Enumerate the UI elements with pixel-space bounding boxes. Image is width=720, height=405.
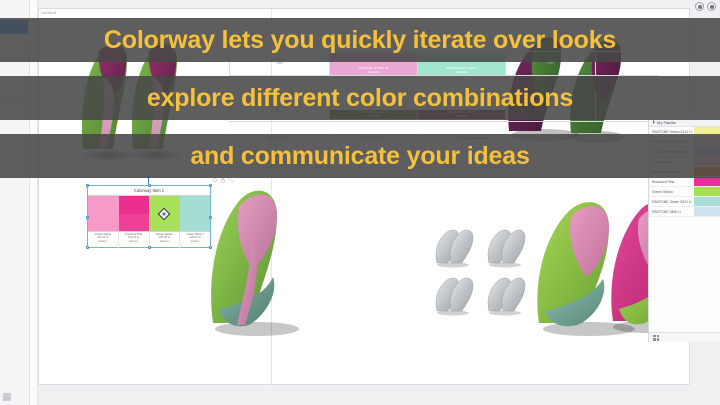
- caption-line-1: Colorway lets you quickly iterate over l…: [104, 26, 616, 55]
- colorway-swatch[interactable]: [119, 196, 150, 231]
- settings-icon[interactable]: [695, 2, 704, 11]
- thumbnail-shoe[interactable]: [483, 275, 527, 317]
- swatch-label: Cotton Candy 100.00 % Factory: [88, 232, 118, 248]
- top-right-toolbar[interactable]: [695, 2, 716, 11]
- rail-status-badge: [3, 393, 11, 401]
- caption-line-3: and communicate your ideas: [190, 142, 529, 171]
- swatch-source: Factory: [88, 240, 118, 243]
- colorway-swatch[interactable]: [180, 196, 211, 231]
- resize-handle[interactable]: [86, 246, 89, 249]
- colorway-swatch[interactable]: [88, 196, 119, 231]
- list-item[interactable]: Knockout Pink: [649, 177, 720, 187]
- swatch-source: Factory: [180, 240, 210, 243]
- swatch-source: Factory: [119, 240, 149, 243]
- resize-handle[interactable]: [209, 216, 212, 219]
- caption-line-2: explore different color combinations: [147, 84, 573, 113]
- resize-handle[interactable]: [86, 184, 89, 187]
- resize-handle[interactable]: [148, 246, 151, 249]
- colorway-swatch-strip: [88, 196, 210, 231]
- swatch-source: Factory: [150, 240, 180, 243]
- chip-hex: #a1e5d0: [456, 71, 467, 74]
- thumbnail-shoe[interactable]: [431, 275, 475, 317]
- palette-color-chip[interactable]: [694, 187, 720, 196]
- color-chip[interactable]: PANTONE 13-2520 TN #eaa7d3: [330, 66, 417, 75]
- caption-band-1: Colorway lets you quickly iterate over l…: [0, 18, 720, 62]
- resize-handle[interactable]: [86, 216, 89, 219]
- rotate-stem: [148, 178, 149, 184]
- shoe-render-center[interactable]: [199, 177, 314, 342]
- colorway-swatch[interactable]: [149, 196, 180, 231]
- chevron-right-icon[interactable]: [653, 120, 655, 124]
- palette-color-chip[interactable]: [694, 197, 720, 206]
- palette-color-name: PANTONE Yellow 0131 U: [649, 130, 694, 134]
- swatch-label: Green 0921 U 100.00 % Factory: [179, 232, 210, 248]
- thumbnail-shoe[interactable]: [431, 227, 475, 269]
- list-item[interactable]: Green Gecko: [649, 187, 720, 197]
- swatch-label: Green Gecko 100.00 % Factory: [149, 232, 180, 248]
- swatch-label: Knockout Pink 100.00 % Factory: [118, 232, 149, 248]
- grid-view-icon[interactable]: [653, 335, 659, 341]
- palette-color-name: PANTONE 9460 U: [649, 210, 694, 214]
- palette-color-chip[interactable]: [694, 207, 720, 216]
- list-item[interactable]: PANTONE 9460 U: [649, 207, 720, 217]
- color-chip[interactable]: PANTONE 0344 2520 U #a1e5d0: [418, 66, 505, 75]
- list-item[interactable]: PANTONE Green 0921 U: [649, 197, 720, 207]
- document-canvas[interactable]: Untitled: [38, 8, 690, 385]
- canvas-label: Untitled: [41, 10, 56, 15]
- colorway-item-panel[interactable]: Colorway Item 1: [87, 185, 211, 248]
- resize-handle[interactable]: [148, 184, 151, 187]
- palette-footer[interactable]: [649, 332, 720, 342]
- palette-color-name: Knockout Pink: [649, 180, 694, 184]
- palette-title: My Palette: [657, 120, 676, 125]
- application-window: Untitled: [0, 0, 720, 405]
- thumbnail-shoe[interactable]: [483, 227, 527, 269]
- thumbnail-grid: [431, 227, 527, 317]
- palette-color-name: Green Gecko: [649, 190, 694, 194]
- palette-color-name: PANTONE Green 0921 U: [649, 200, 694, 204]
- resize-handle[interactable]: [209, 246, 212, 249]
- resize-handle[interactable]: [209, 184, 212, 187]
- chip-hex: #eaa7d3: [368, 71, 379, 74]
- colorway-item-title: Colorway Item 1: [88, 186, 210, 196]
- settings-icon[interactable]: [707, 2, 716, 11]
- caption-band-2: explore different color combinations: [0, 76, 720, 120]
- caption-band-3: and communicate your ideas: [0, 134, 720, 178]
- palette-color-chip[interactable]: [694, 177, 720, 186]
